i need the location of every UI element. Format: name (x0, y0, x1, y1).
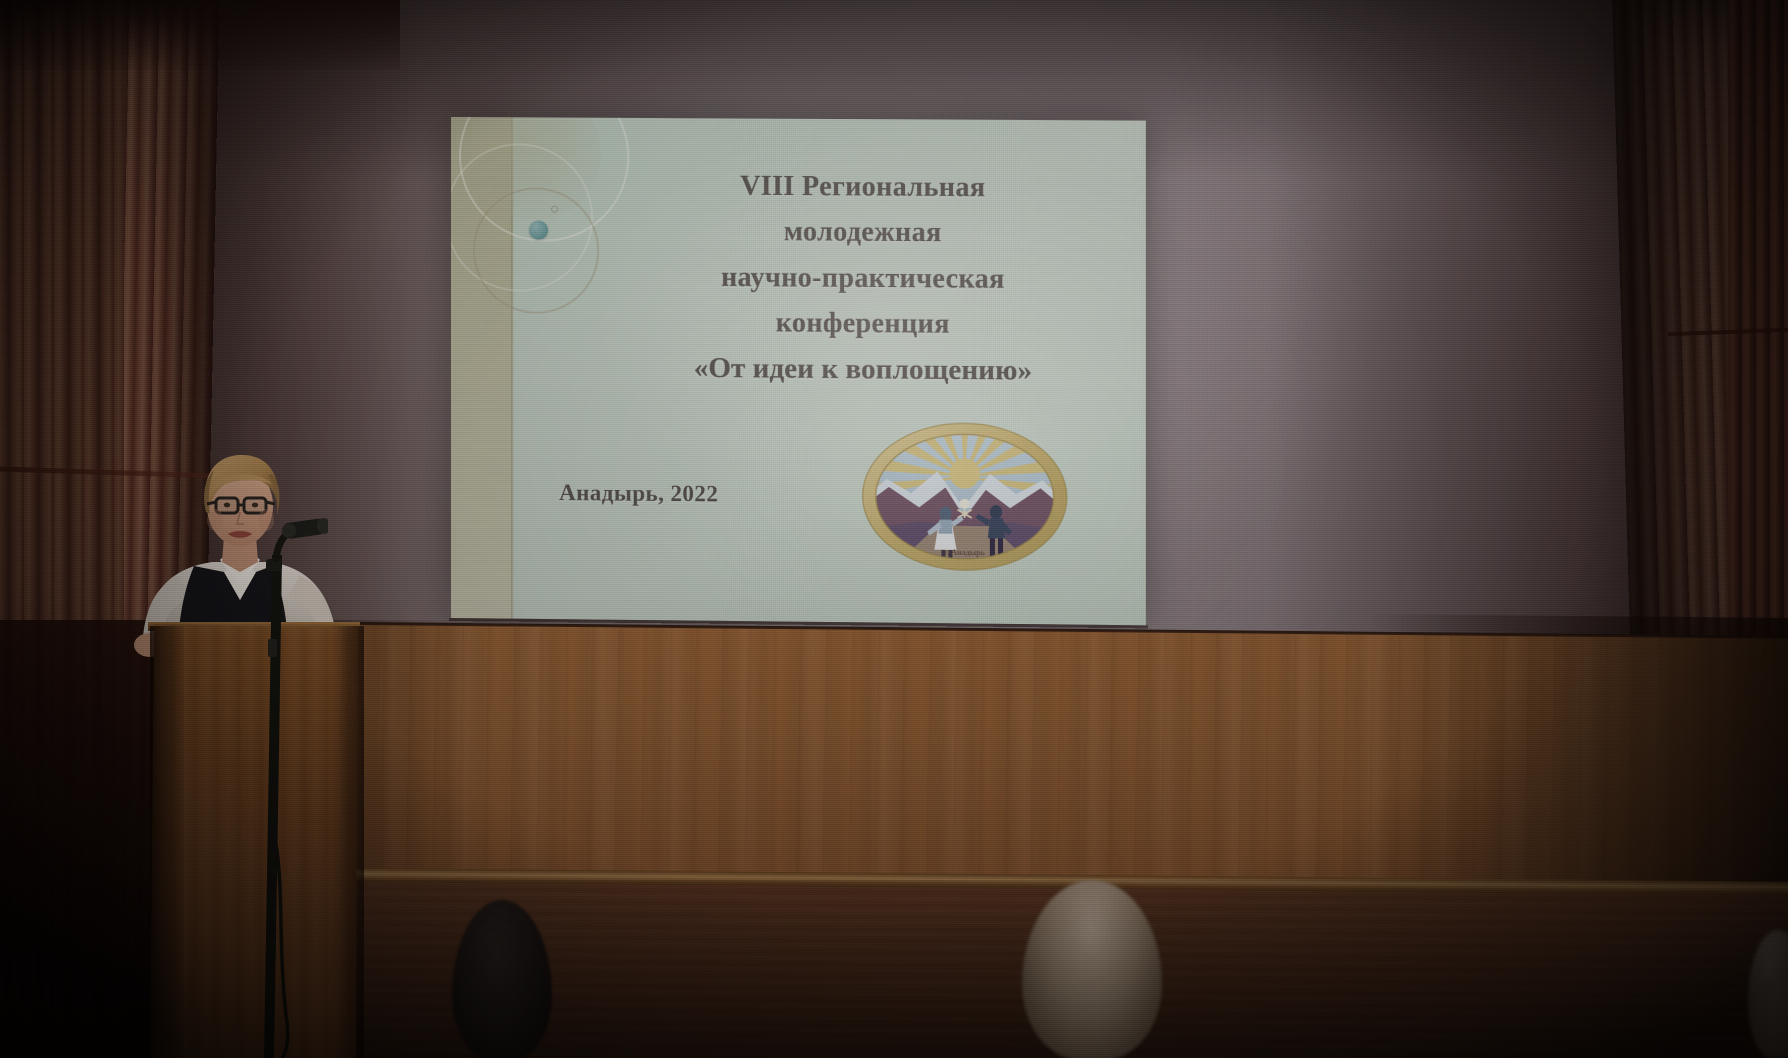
slide-location-year: Анадырь, 2022 (559, 480, 718, 508)
slide-title: VIII Региональная молодежная научно-прак… (606, 163, 1120, 396)
podium-left-shadow (150, 626, 184, 1058)
slide-accent-dot (529, 220, 548, 239)
slide-title-line-4: конференция (606, 299, 1120, 348)
curtain-valance (0, 0, 400, 70)
anadyr-coat-of-arms-emblem: г. Анадырь (859, 420, 1071, 573)
wood-panel-right-shadow (1368, 614, 1788, 883)
slide-decor-circle-3 (473, 187, 599, 314)
slide-title-line-2: молодежная (606, 208, 1120, 257)
conference-photo: VIII Региональная молодежная научно-прак… (0, 0, 1788, 1058)
microphone-on-stand (238, 515, 328, 1058)
projection-screen-slide: VIII Региональная молодежная научно-прак… (451, 117, 1146, 625)
podium-right-shadow (330, 626, 364, 1058)
slide-title-line-1: VIII Региональная (606, 163, 1120, 212)
slide-title-line-3: научно-практическая (606, 254, 1120, 303)
slide-tiny-circle (551, 206, 558, 213)
emblem-caption: г. Анадырь (944, 548, 985, 557)
slide-title-line-5: «От идеи к воплощению» (606, 345, 1120, 396)
